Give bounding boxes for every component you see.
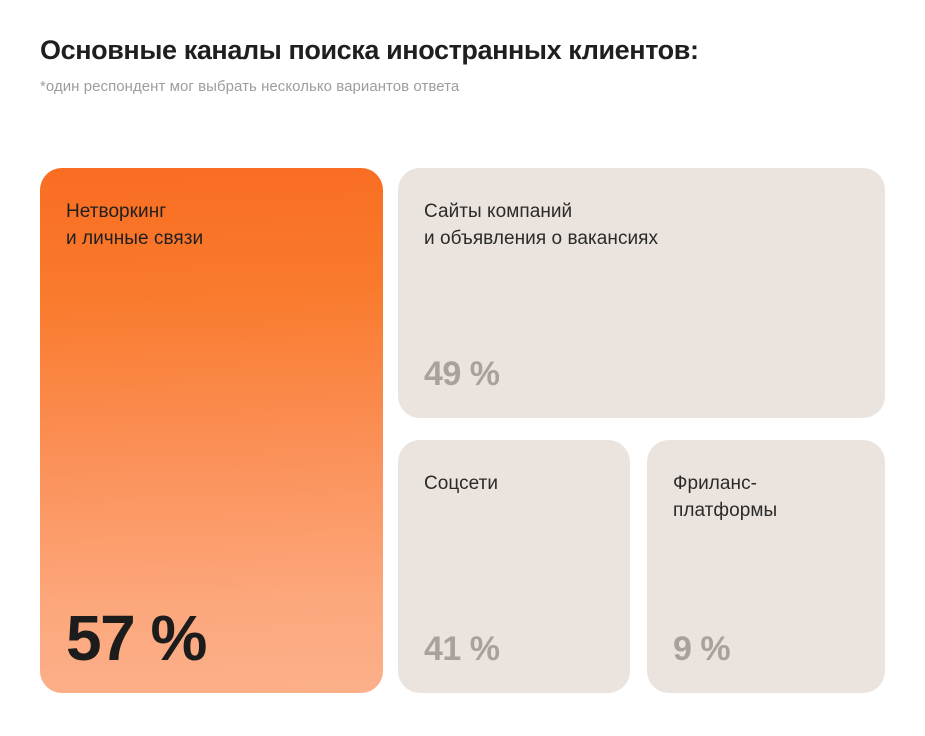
card-social-networks-label: Соцсети	[424, 470, 604, 497]
card-grid: Нетворкинг и личные связи 57 % Сайты ком…	[40, 168, 885, 693]
card-company-sites[interactable]: Сайты компаний и объявления о вакансиях …	[398, 168, 885, 418]
infographic-root: Основные каналы поиска иностранных клиен…	[0, 0, 925, 736]
card-networking-label: Нетворкинг и личные связи	[66, 198, 357, 252]
card-company-sites-label: Сайты компаний и объявления о вакансиях	[424, 198, 859, 252]
header: Основные каналы поиска иностранных клиен…	[40, 33, 890, 97]
card-networking[interactable]: Нетворкинг и личные связи 57 %	[40, 168, 383, 693]
card-social-networks[interactable]: Соцсети 41 %	[398, 440, 630, 693]
card-freelance-platforms-value: 9 %	[673, 631, 859, 667]
chart-subtitle: *один респондент мог выбрать несколько в…	[40, 77, 890, 97]
card-freelance-platforms-label: Фриланс- платформы	[673, 470, 859, 524]
card-freelance-platforms[interactable]: Фриланс- платформы 9 %	[647, 440, 885, 693]
page-title: Основные каналы поиска иностранных клиен…	[40, 33, 890, 67]
card-company-sites-value: 49 %	[424, 356, 859, 392]
card-networking-value: 57 %	[66, 605, 357, 671]
card-social-networks-value: 41 %	[424, 631, 604, 667]
